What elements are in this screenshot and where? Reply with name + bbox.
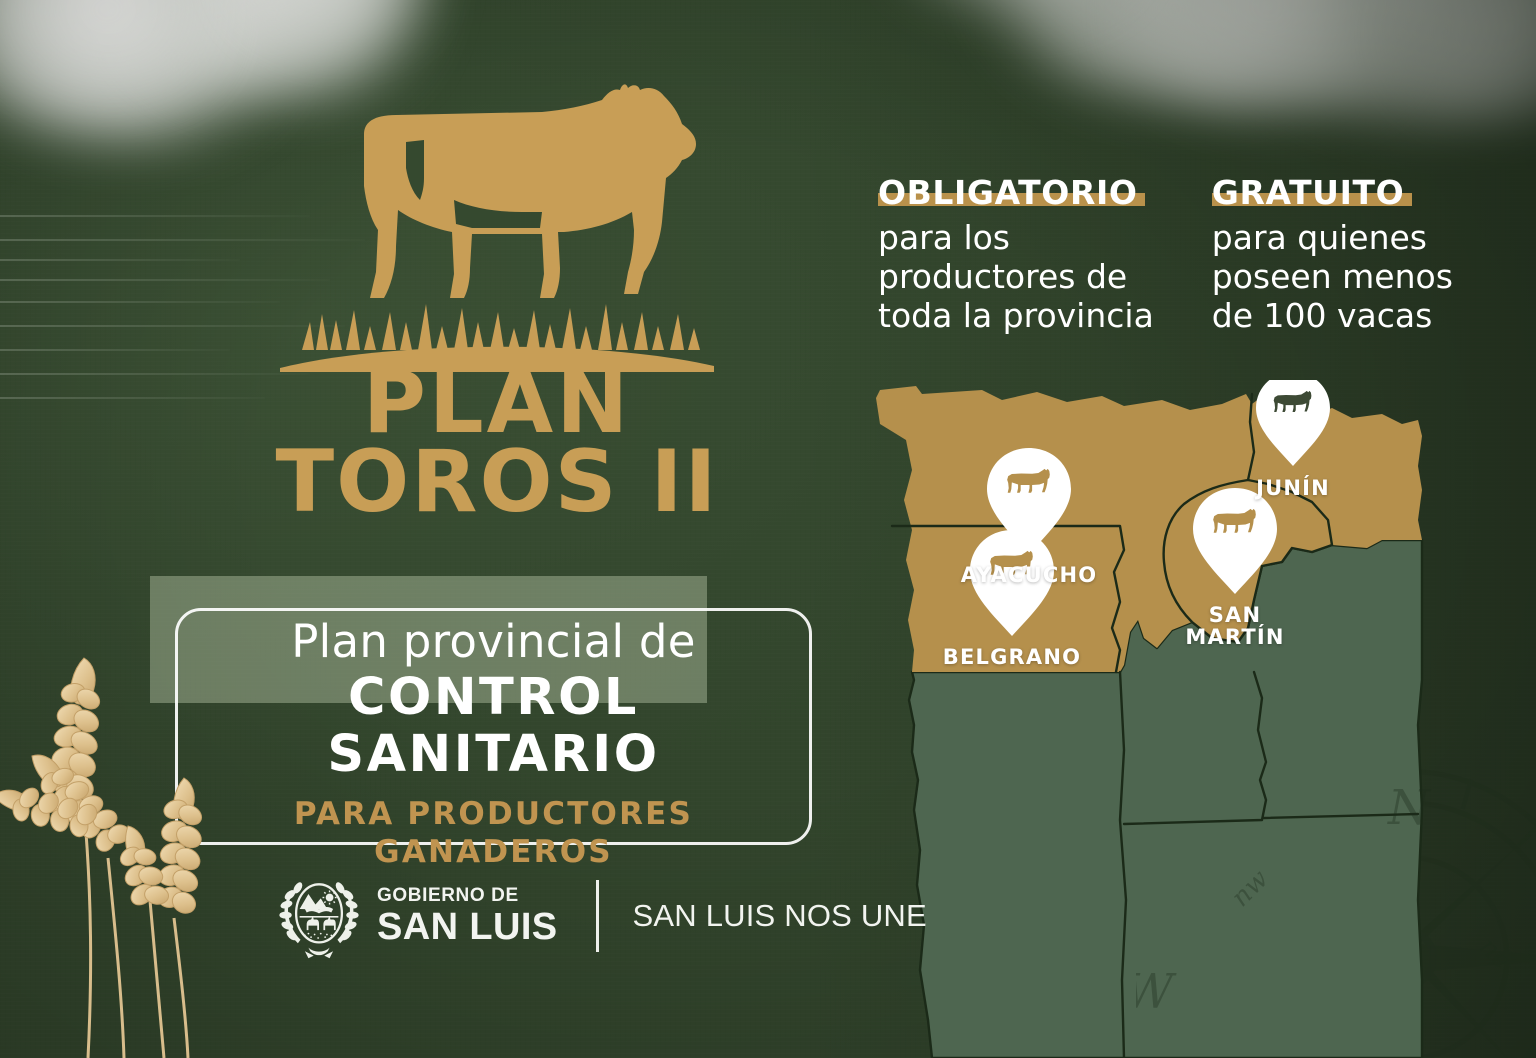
government-name: GOBIERNO DE SAN LUIS [377, 886, 558, 946]
map-label-san-martin: SAN MARTÍN [1185, 604, 1284, 648]
logo-wordmark: PLAN TOROS II [272, 364, 722, 522]
government-branding: GOBIERNO DE SAN LUIS SAN LUIS NOS UNE [275, 868, 927, 964]
san-luis-map: AYACUCHO JUNÍN BELGRANO SAN MARTÍN [862, 380, 1462, 1058]
callouts-group: OBLIGATORIO para los productores de toda… [878, 176, 1453, 335]
san-luis-coat-of-arms-icon [275, 870, 363, 962]
plan-toros-logo: PLAN TOROS II [272, 82, 722, 512]
callout-gratuito: GRATUITO para quienes poseen menos de 10… [1212, 176, 1453, 335]
callout-body: para quienes poseen menos de 100 vacas [1212, 219, 1453, 336]
map-label-ayacucho: AYACUCHO [961, 564, 1098, 586]
map-label-junin: JUNÍN [1256, 477, 1330, 499]
callout-keyword: OBLIGATORIO [878, 176, 1137, 210]
footer-slogan: SAN LUIS NOS UNE [633, 898, 927, 934]
callout-body: para los productores de toda la provinci… [878, 219, 1154, 336]
map-svg [862, 380, 1462, 1058]
footer-divider [596, 880, 599, 952]
callout-obligatorio: OBLIGATORIO para los productores de toda… [878, 176, 1154, 335]
gov-small-label: GOBIERNO DE [377, 886, 558, 905]
map-label-belgrano: BELGRANO [943, 646, 1081, 668]
bull-on-grass-icon [272, 82, 722, 372]
logo-line-2: TOROS II [272, 443, 722, 522]
poster-root: PLAN TOROS II OBLIGATORIO para los produ… [0, 0, 1536, 1058]
callout-keyword: GRATUITO [1212, 176, 1404, 210]
wheat-stalks-icon [0, 648, 288, 1058]
gov-big-label: SAN LUIS [377, 908, 558, 946]
